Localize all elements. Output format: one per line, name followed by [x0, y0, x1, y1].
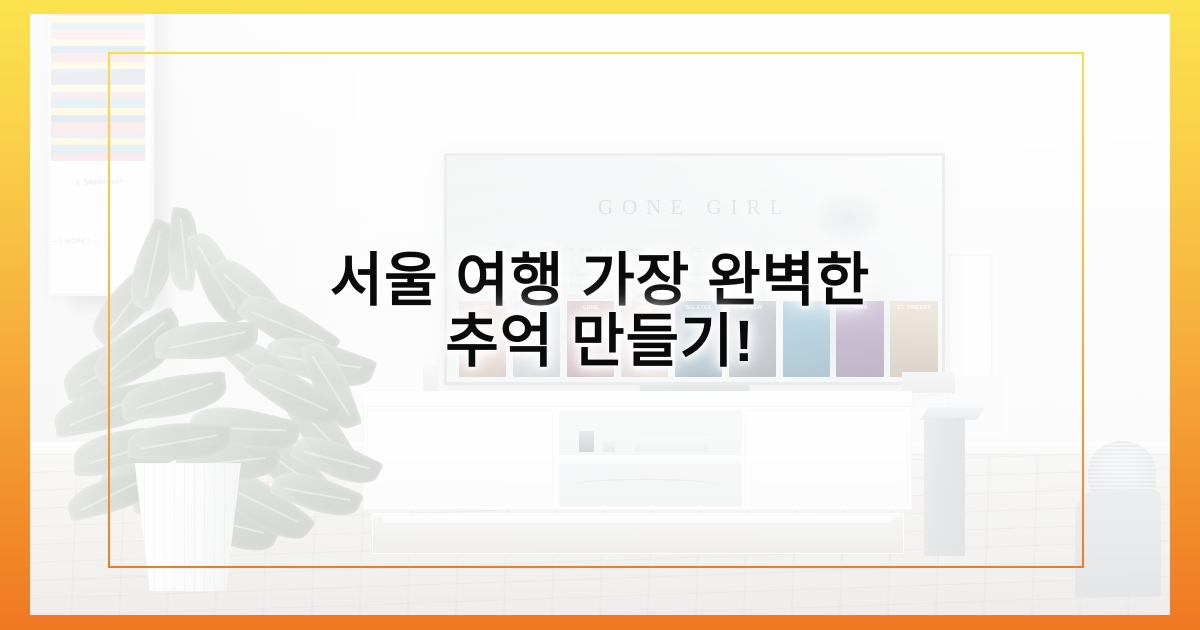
tv-credits-column: DIRECTOR David Fincher STARRING Ben Affl… [464, 242, 533, 300]
niche-remote [579, 431, 594, 452]
artwork-stripe [48, 69, 145, 76]
artwork-stripe [48, 92, 145, 99]
artwork-stripes [48, 14, 145, 169]
artwork-stripe [48, 154, 145, 161]
console-body [363, 406, 912, 510]
tv-poster-title: The Jungle [513, 305, 560, 311]
artwork-caption: — { WORK } — [51, 239, 100, 245]
tv-director-label: DIRECTOR [464, 242, 533, 254]
artwork-stripe [48, 23, 145, 30]
console-door-left [367, 410, 553, 506]
tv-poster: The Jungle [513, 301, 560, 378]
artwork-stripe [48, 39, 145, 46]
tv-poster: BLUE [459, 301, 506, 378]
potted-plant [53, 254, 395, 591]
tv-screen: GONE GIRL 88% 17+ 2 hr 29 min Drama 2014… [447, 156, 943, 381]
gradient-frame-border: J. Stephenson — { WORK } — GONE GIRL 88%… [0, 0, 1200, 630]
artwork-stripe [48, 53, 145, 62]
niche-small-box [603, 441, 616, 452]
floor-speaker [924, 418, 965, 556]
tv-poster: GONE [567, 301, 614, 378]
artwork-stripe [48, 138, 145, 145]
tv-director-name: David Fincher [464, 254, 533, 266]
artwork-stripe [48, 108, 145, 115]
artwork-stripe [48, 62, 145, 69]
tv-bezel: GONE GIRL 88% 17+ 2 hr 29 min Drama 2014… [444, 153, 946, 384]
photo-matte: J. Stephenson — { WORK } — GONE GIRL 88%… [30, 14, 1170, 615]
artwork-stripe [48, 99, 145, 108]
artwork-stripe [48, 46, 145, 53]
tv-starring-label: STARRING [464, 265, 533, 277]
television: GONE GIRL 88% 17+ 2 hr 29 min Drama 2014… [444, 153, 946, 384]
artwork-stripe [48, 145, 145, 154]
artwork-stripe [48, 122, 145, 131]
artwork-stripe [48, 115, 145, 122]
artwork-stripe [48, 85, 145, 92]
console-top-surface [363, 391, 912, 406]
tv-starring-names: Ben Affleck, Rosamund Pike, Neil Patrick… [464, 277, 533, 300]
soundbar-box [902, 372, 954, 392]
artwork-stripe [48, 16, 145, 23]
tv-score-badge: 88% [541, 247, 555, 254]
media-console [363, 391, 912, 553]
remote-control [423, 366, 438, 392]
niche-game-console [633, 437, 711, 452]
tv-poster-title: BLUE [459, 305, 506, 311]
tv-poster-title: GONE [567, 305, 614, 311]
armchair-corner [1075, 489, 1161, 597]
console-shelf [559, 455, 742, 464]
artwork-stripe [48, 30, 145, 39]
plant-pot [125, 463, 252, 591]
console-open-niche [559, 410, 742, 506]
tv-screen-glare [655, 156, 942, 381]
console-plinth [372, 513, 904, 554]
living-room-photo: J. Stephenson — { WORK } — GONE GIRL 88%… [30, 14, 1170, 615]
niche-cable [570, 479, 720, 492]
console-door-right [744, 410, 908, 506]
artwork-stripe [48, 76, 145, 85]
console-plinth-lip [383, 516, 892, 522]
artwork-stripe [48, 131, 145, 138]
artwork-signature: J. Stephenson [75, 178, 124, 187]
